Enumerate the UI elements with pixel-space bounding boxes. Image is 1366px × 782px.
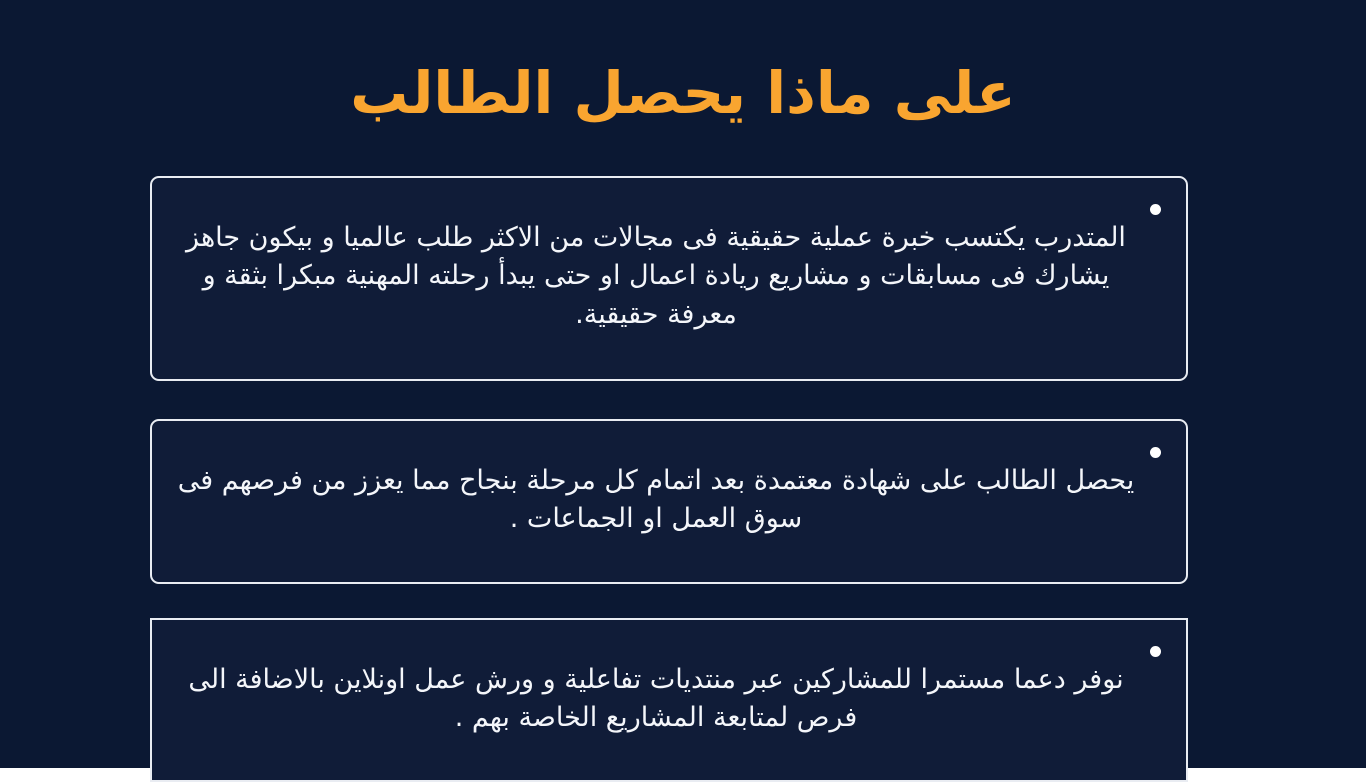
list-item[interactable]: يحصل الطالب على شهادة معتمدة بعد اتمام ك… xyxy=(150,419,1188,584)
bullet-dot-icon xyxy=(1142,435,1168,458)
list-item[interactable]: نوفر دعما مستمرا للمشاركين عبر منتديات ت… xyxy=(150,618,1188,782)
presentation-slide: على ماذا يحصل الطالب المتدرب يكتسب خبرة … xyxy=(0,0,1366,768)
page-title: على ماذا يحصل الطالب xyxy=(0,61,1366,126)
bullet-dot-icon xyxy=(1142,192,1168,215)
list-item-text: نوفر دعما مستمرا للمشاركين عبر منتديات ت… xyxy=(170,661,1142,738)
list-item-text: يحصل الطالب على شهادة معتمدة بعد اتمام ك… xyxy=(170,462,1142,539)
list-item-text: المتدرب يكتسب خبرة عملية حقيقية فى مجالا… xyxy=(170,219,1142,336)
bullet-dot-icon xyxy=(1142,634,1168,657)
list-item[interactable]: المتدرب يكتسب خبرة عملية حقيقية فى مجالا… xyxy=(150,176,1188,381)
bullet-list: المتدرب يكتسب خبرة عملية حقيقية فى مجالا… xyxy=(150,176,1188,782)
